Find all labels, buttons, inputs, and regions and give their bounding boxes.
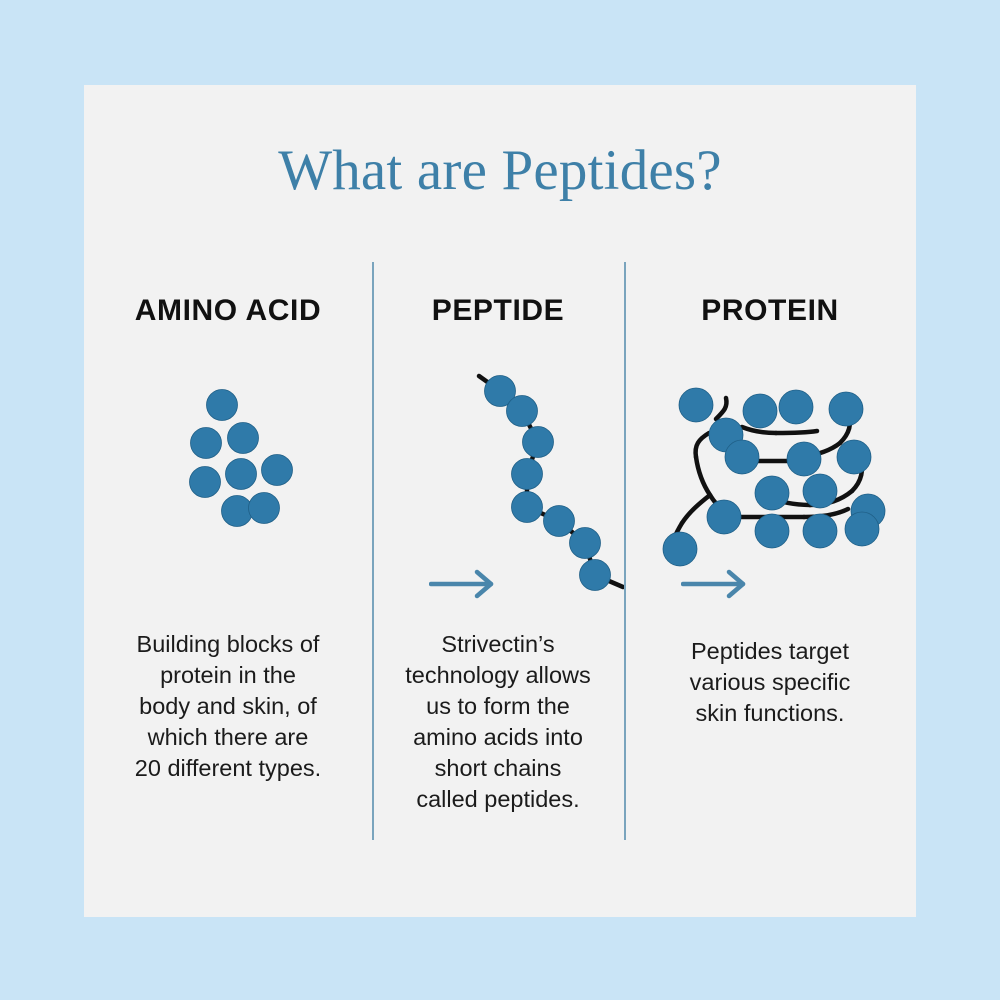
amino-bead bbox=[226, 459, 257, 490]
protein-diagram bbox=[624, 365, 916, 615]
peptide-chain-links bbox=[479, 376, 623, 587]
column-heading-peptide: PEPTIDE bbox=[372, 296, 624, 326]
column-body-amino-acid: Building blocks of protein in the body a… bbox=[84, 629, 372, 784]
peptide-bead bbox=[570, 528, 601, 559]
peptide-bead bbox=[507, 396, 538, 427]
protein-bead bbox=[845, 512, 879, 546]
protein-bead bbox=[707, 500, 741, 534]
protein-bead bbox=[755, 476, 789, 510]
arrow-amino-to-peptide-icon bbox=[429, 569, 499, 599]
peptide-bead bbox=[512, 492, 543, 523]
column-heading-amino-acid: AMINO ACID bbox=[84, 296, 372, 326]
amino-bead bbox=[222, 496, 253, 527]
peptide-bead bbox=[512, 459, 543, 490]
protein-bead bbox=[803, 514, 837, 548]
amino-bead bbox=[207, 390, 238, 421]
peptide-bead bbox=[580, 560, 611, 591]
column-peptide: PEPTIDE bbox=[372, 85, 624, 917]
column-body-peptide: Strivectin’s technology allows us to for… bbox=[372, 629, 624, 815]
peptide-bead bbox=[523, 427, 554, 458]
column-body-protein: Peptides target various specific skin fu… bbox=[624, 636, 916, 729]
amino-bead bbox=[249, 493, 280, 524]
protein-bead bbox=[663, 532, 697, 566]
protein-bead bbox=[829, 392, 863, 426]
content-card: What are Peptides? AMINO ACID bbox=[84, 85, 916, 917]
protein-bead bbox=[837, 440, 871, 474]
amino-acid-diagram bbox=[84, 365, 372, 615]
column-protein: PROTEIN bbox=[624, 85, 916, 917]
column-amino-acid: AMINO ACID Building blocks of protei bbox=[84, 85, 372, 917]
column-heading-protein: PROTEIN bbox=[624, 296, 916, 326]
protein-bead bbox=[779, 390, 813, 424]
amino-bead bbox=[190, 467, 221, 498]
amino-bead bbox=[191, 428, 222, 459]
protein-bead bbox=[803, 474, 837, 508]
protein-bead bbox=[679, 388, 713, 422]
amino-bead bbox=[228, 423, 259, 454]
protein-bead bbox=[743, 394, 777, 428]
amino-bead bbox=[262, 455, 293, 486]
protein-bead bbox=[787, 442, 821, 476]
protein-bead bbox=[755, 514, 789, 548]
protein-bead bbox=[725, 440, 759, 474]
infographic-canvas: What are Peptides? AMINO ACID bbox=[0, 0, 1000, 1000]
arrow-peptide-to-protein-icon bbox=[681, 569, 751, 599]
peptide-bead bbox=[544, 506, 575, 537]
